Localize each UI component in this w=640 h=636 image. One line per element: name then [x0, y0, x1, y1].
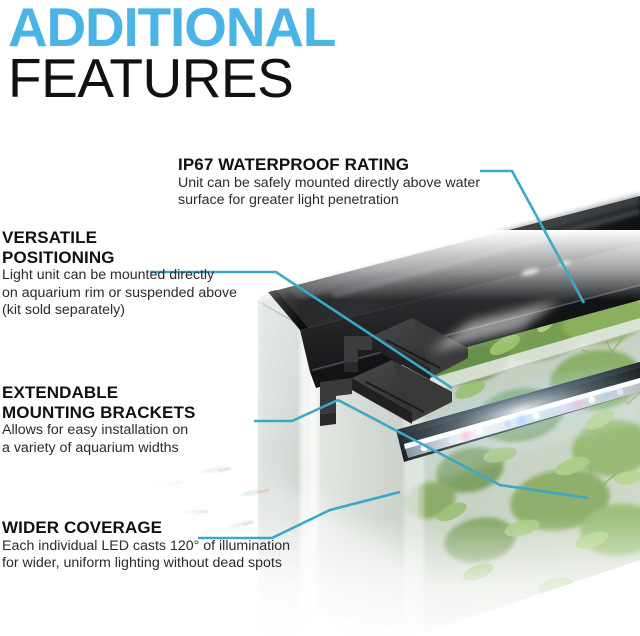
callout-versatile-body-line-3: (kit sold separately) — [2, 302, 237, 320]
callout-waterproof: IP67 WATERPROOF RATING Unit can be safel… — [178, 155, 480, 210]
callout-versatile-body: Light unit can be mounted directly on aq… — [2, 267, 237, 320]
callout-coverage-body: Each individual LED casts 120° of illumi… — [2, 538, 290, 573]
photo-top-fade — [230, 230, 640, 300]
title-line-accent: ADDITIONAL — [8, 2, 478, 52]
callout-coverage-body-line-1: Each individual LED casts 120° of illumi… — [2, 538, 290, 556]
callout-versatile: VERSATILE POSITIONING Light unit can be … — [2, 228, 237, 320]
callout-waterproof-body-line-1: Unit can be safely mounted directly abov… — [178, 175, 480, 193]
callout-versatile-heading-line-1: VERSATILE — [2, 228, 237, 248]
page-title: ADDITIONAL FEATURES — [8, 2, 478, 104]
callout-brackets-body: Allows for easy installation on a variet… — [2, 422, 195, 457]
callout-waterproof-heading: IP67 WATERPROOF RATING — [178, 155, 480, 175]
callout-versatile-body-line-1: Light unit can be mounted directly — [2, 267, 237, 285]
callout-coverage-heading: WIDER COVERAGE — [2, 518, 290, 538]
callout-waterproof-body: Unit can be safely mounted directly abov… — [178, 175, 480, 210]
callout-versatile-body-line-2: on aquarium rim or suspended above — [2, 285, 237, 303]
callout-coverage: WIDER COVERAGE Each individual LED casts… — [2, 518, 290, 573]
callout-brackets-body-line-1: Allows for easy installation on — [2, 422, 195, 440]
callout-versatile-heading-line-2: POSITIONING — [2, 248, 237, 268]
callout-coverage-body-line-2: for wider, uniform lighting without dead… — [2, 555, 290, 573]
title-line-main: FEATURES — [8, 52, 478, 104]
callout-brackets-heading-line-1: EXTENDABLE — [2, 383, 195, 403]
infographic-canvas: ADDITIONAL FEATURES IP67 WATERPROOF RATI… — [0, 0, 640, 636]
callout-waterproof-body-line-2: surface for greater light penetration — [178, 192, 480, 210]
callout-brackets: EXTENDABLE MOUNTING BRACKETS Allows for … — [2, 383, 195, 457]
callout-brackets-body-line-2: a variety of aquarium widths — [2, 440, 195, 458]
callout-brackets-heading-line-2: MOUNTING BRACKETS — [2, 403, 195, 423]
